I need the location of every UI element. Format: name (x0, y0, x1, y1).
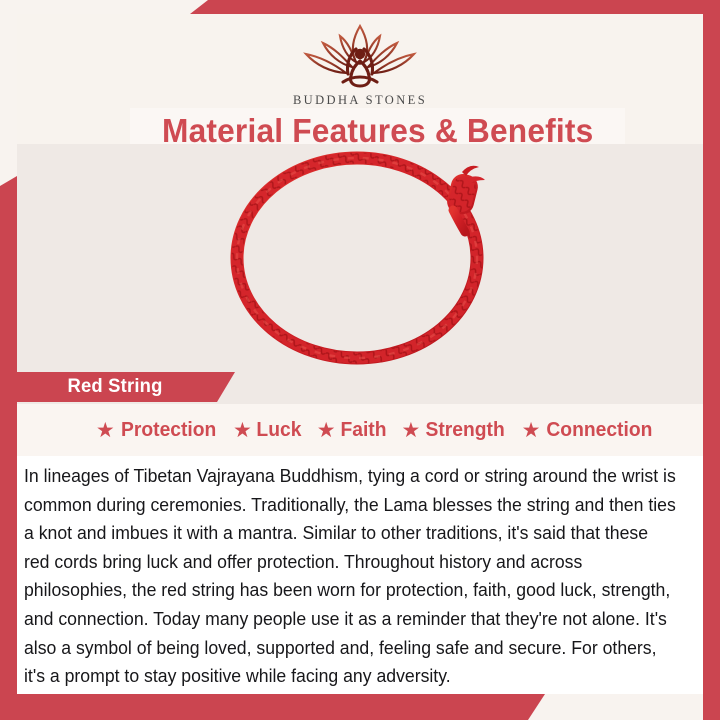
benefit-label: Connection (547, 418, 653, 442)
top-red-band-decoration (190, 0, 720, 14)
star-icon: ★ (317, 420, 336, 441)
product-photo-area (17, 144, 703, 370)
red-braided-string-bracelet-photo (215, 150, 505, 366)
brand-name: BUDDHA STONES (17, 93, 703, 108)
header: BUDDHA STONES Material Features & Benefi… (17, 14, 703, 144)
benefit-item: ★ Luck (233, 418, 303, 442)
right-red-bar-decoration (703, 0, 720, 720)
benefit-item: ★ Protection (96, 418, 219, 442)
lotus-meditating-figure-icon (296, 20, 424, 92)
benefit-item: ★ Connection (522, 418, 657, 442)
benefit-item: ★ Strength (402, 418, 508, 442)
description-panel: In lineages of Tibetan Vajrayana Buddhis… (17, 456, 703, 694)
benefits-strip: ★ Protection ★ Luck ★ Faith ★ Strength ★… (17, 404, 703, 456)
benefits-row: ★ Protection ★ Luck ★ Faith ★ Strength ★… (56, 418, 664, 442)
infographic-page: BUDDHA STONES Material Features & Benefi… (0, 0, 720, 720)
star-icon: ★ (233, 420, 252, 441)
benefit-label: Faith (340, 418, 386, 442)
bottom-red-band-decoration (0, 694, 545, 720)
brand-logo: BUDDHA STONES (17, 20, 703, 108)
description-text: In lineages of Tibetan Vajrayana Buddhis… (24, 462, 677, 691)
benefit-label: Protection (121, 418, 216, 442)
left-red-bar-lower-decoration (0, 398, 17, 720)
product-label: Red String (67, 376, 162, 398)
star-icon: ★ (96, 420, 115, 441)
left-red-bar-upper-decoration (0, 176, 17, 398)
benefit-label: Strength (426, 418, 505, 442)
benefit-item: ★ Faith (317, 418, 388, 442)
star-icon: ★ (522, 420, 541, 441)
star-icon: ★ (402, 420, 421, 441)
product-label-banner: Red String (17, 372, 235, 402)
benefit-label: Luck (256, 418, 301, 442)
